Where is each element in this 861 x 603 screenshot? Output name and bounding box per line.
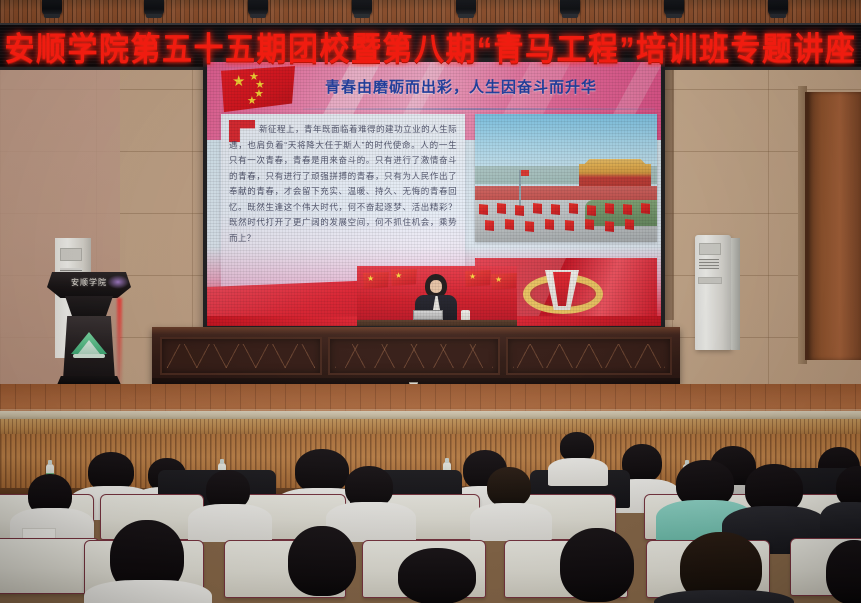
table-panel-1 — [160, 337, 322, 375]
ceiling-light-3 — [248, 0, 268, 15]
slide-canvas: ★ ★ ★ ★ ★ 青春由磨砺而出彩，人生因奋斗而升华 新征程上，青年既面临着难… — [207, 62, 661, 326]
photo-flag-row-1 — [475, 202, 657, 216]
banner-text: 安顺学院第五十五期团校暨第八期“青马工程”培训班专题讲座 — [5, 23, 857, 70]
ceiling-light-5 — [456, 0, 476, 15]
audience-head — [288, 526, 356, 596]
ac-display-panel — [60, 248, 82, 261]
ceiling-light-2 — [144, 0, 164, 15]
audience-shoulders — [188, 504, 272, 542]
lectern-neck — [65, 296, 113, 318]
photo-flag-row-2 — [475, 218, 657, 232]
speaker-desk-edge — [357, 320, 517, 326]
backdrop-flag-4: ★ — [491, 273, 517, 290]
audience-shoulders — [84, 580, 212, 603]
audience-head — [487, 467, 531, 507]
table-top-edge — [152, 327, 680, 334]
wooden-door[interactable] — [805, 92, 861, 360]
audience-shoulders — [548, 458, 608, 486]
stage-head-table — [152, 327, 680, 384]
ceiling-light-8 — [768, 0, 788, 15]
ac-vent-grill — [699, 259, 719, 269]
audience-head — [398, 548, 476, 603]
presentation-screen: ★ ★ ★ ★ ★ 青春由磨砺而出彩，人生因奋斗而升华 新征程上，青年既面临着难… — [203, 58, 665, 330]
air-conditioner-right — [695, 235, 731, 350]
audience-head — [295, 449, 349, 493]
slide-title: 青春由磨砺而出彩，人生因奋斗而升华 — [325, 76, 597, 97]
ceiling-light-7 — [664, 0, 684, 15]
air-conditioner-right-side — [731, 238, 740, 350]
mountain-emblem-icon — [71, 328, 107, 358]
slide-title-underline — [303, 108, 655, 110]
ceiling-light-6 — [560, 0, 580, 15]
tiananmen-photo — [475, 114, 657, 242]
led-banner: 安顺学院第五十五期团校暨第八期“青马工程”培训班专题讲座 — [0, 23, 861, 70]
speaker-laptop — [413, 310, 443, 320]
slide-body-text: 新征程上，青年既面临着难得的建功立业的人生际遇，也肩负着“天将降大任于斯人”的时… — [229, 122, 457, 246]
backdrop-flag-1: ★ — [363, 272, 389, 289]
ac-lower-vent — [698, 277, 722, 284]
speaker-at-table: ★ ★ ★ ★ — [357, 266, 517, 326]
audience-shoulders — [654, 590, 794, 603]
lectern-light-glow — [107, 275, 129, 289]
ceiling-light-1 — [42, 0, 62, 15]
table-panel-3 — [506, 337, 672, 375]
backdrop-flag-3: ★ — [465, 270, 491, 287]
lecture-hall-photo: 安顺学院第五十五期团校暨第八期“青马工程”培训班专题讲座 ★ ★ — [0, 0, 861, 603]
ac-display-panel — [699, 243, 721, 255]
audience-shoulders — [820, 502, 861, 542]
youth-league-emblem-icon — [515, 268, 611, 318]
audience-shoulders — [470, 503, 552, 541]
ceiling-light-4 — [352, 0, 372, 15]
audience-head — [560, 528, 634, 602]
lectern-red-light-streak — [117, 298, 122, 388]
lectern: 安顺学院 — [47, 272, 131, 384]
table-panel-2 — [328, 337, 500, 375]
speaker-face — [430, 280, 442, 293]
backdrop-flag-2: ★ — [391, 269, 417, 286]
